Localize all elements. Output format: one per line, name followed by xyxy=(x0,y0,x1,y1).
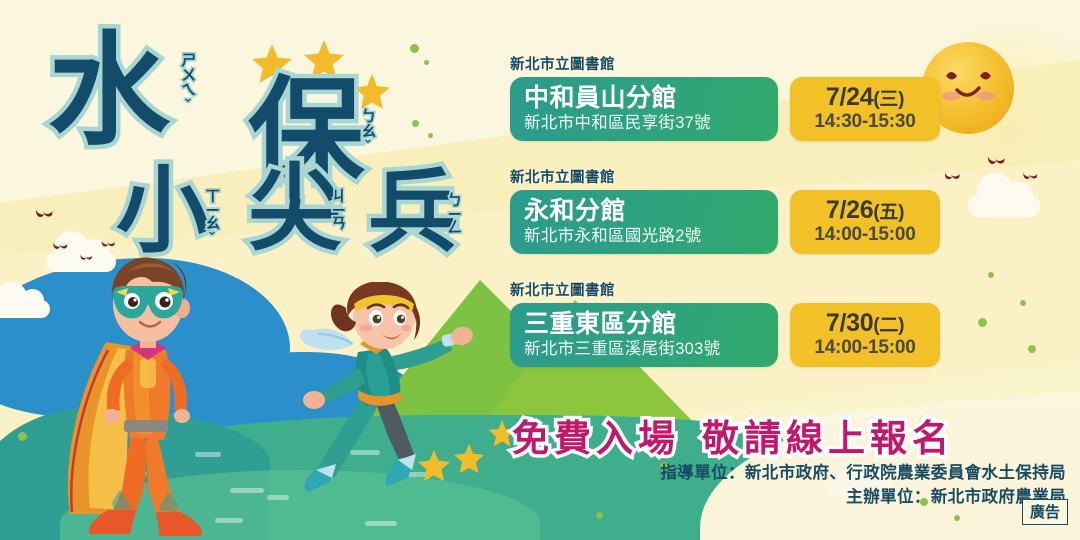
event-date-value: 7/26 xyxy=(826,196,873,224)
event-list: 新北市立圖書館 中和員山分館 新北市中和區民享街37號 7/24(三) 14:3… xyxy=(510,58,950,397)
decor-dot xyxy=(18,432,27,441)
title-bopomofo-bing: ㄅㄧㄥ xyxy=(446,192,461,234)
water-ripple xyxy=(267,495,289,500)
event-weekday: (二) xyxy=(873,315,904,336)
bird-icon xyxy=(1023,169,1037,177)
event-time: 14:30-15:30 xyxy=(814,111,915,134)
water-ripple xyxy=(365,521,397,526)
credits-host: 主辦單位：新北市政府農業局 xyxy=(660,486,1066,510)
title-char-xiao: 小 xyxy=(116,164,210,258)
title-bopomofo-shui: ㄕㄨㄟˇ xyxy=(180,52,195,114)
decor-dot xyxy=(596,512,603,519)
event-organizer: 新北市立圖書館 xyxy=(510,58,950,73)
event-venue-name: 三重東區分館 xyxy=(524,310,764,338)
cloud-icon xyxy=(0,300,50,318)
title-bopomofo-jian: ㄐㄧㄢ xyxy=(330,188,345,230)
credits-block: 指導單位：新北市政府、行政院農業委員會水土保持局 主辦單位：新北市政府農業局 xyxy=(660,462,1066,510)
event-venue-box[interactable]: 永和分館 新北市永和區國光路2號 xyxy=(510,190,778,255)
cta-free-entry: 免費入場 xyxy=(512,418,680,459)
decor-dot xyxy=(954,515,960,521)
event-venue-address: 新北市三重區溪尾街303號 xyxy=(524,339,764,360)
event-date-box[interactable]: 7/26(五) 14:00-15:00 xyxy=(790,190,940,255)
advertisement-tag: 廣告 xyxy=(1022,499,1068,525)
decor-dot xyxy=(1028,345,1036,353)
event-item[interactable]: 新北市立圖書館 永和分館 新北市永和區國光路2號 7/26(五) 14:00-1… xyxy=(510,171,950,274)
event-weekday: (三) xyxy=(873,89,904,110)
decor-dot xyxy=(1020,300,1026,306)
cta-banner: 免費入場敬請線上報名 xyxy=(512,408,954,462)
bird-icon xyxy=(988,152,1004,161)
title-bopomofo-bao: ㄅㄠˇ xyxy=(360,108,375,155)
event-time: 14:00-15:00 xyxy=(814,337,915,360)
event-organizer: 新北市立圖書館 xyxy=(510,284,950,299)
decor-dot xyxy=(988,272,994,278)
event-date-value: 7/30 xyxy=(826,309,873,337)
event-date: 7/26(五) xyxy=(826,197,904,223)
event-venue-name: 永和分館 xyxy=(524,197,764,225)
event-venue-address: 新北市永和區國光路2號 xyxy=(524,226,764,247)
cloud-icon xyxy=(968,195,1040,217)
event-venue-name: 中和員山分館 xyxy=(524,84,764,112)
event-item[interactable]: 新北市立圖書館 三重東區分館 新北市三重區溪尾街303號 7/30(二) 14:… xyxy=(510,284,950,387)
event-date: 7/30(二) xyxy=(826,310,904,336)
title-char-jian: 尖 xyxy=(248,162,342,256)
event-venue-box[interactable]: 三重東區分館 新北市三重區溪尾街303號 xyxy=(510,303,778,368)
decor-dot xyxy=(978,318,987,327)
cta-register: 敬請線上報名 xyxy=(702,418,954,459)
event-item[interactable]: 新北市立圖書館 中和員山分館 新北市中和區民享街37號 7/24(三) 14:3… xyxy=(510,58,950,161)
event-organizer: 新北市立圖書館 xyxy=(510,171,950,186)
event-date: 7/24(三) xyxy=(826,84,904,110)
event-venue-box[interactable]: 中和員山分館 新北市中和區民享街37號 xyxy=(510,77,778,142)
title-char-shui: 水 xyxy=(48,30,170,152)
credits-advisor: 指導單位：新北市政府、行政院農業委員會水土保持局 xyxy=(660,462,1066,486)
event-weekday: (五) xyxy=(873,202,904,223)
superhero-boy-illustration xyxy=(48,252,248,540)
event-date-box[interactable]: 7/30(二) 14:00-15:00 xyxy=(790,303,940,368)
title-bopomofo-xiao: ㄒㄧㄠˇ xyxy=(204,188,219,247)
event-time: 14:00-15:00 xyxy=(814,224,915,247)
event-date-box[interactable]: 7/24(三) 14:30-15:30 xyxy=(790,77,940,142)
poster-canvas: 水 ㄕㄨㄟˇ 保 ㄅㄠˇ 小 ㄒㄧㄠˇ 尖 ㄐㄧㄢ 兵 ㄅㄧㄥ xyxy=(0,0,1080,540)
event-date-value: 7/24 xyxy=(826,83,873,111)
poster-title: 水 ㄕㄨㄟˇ 保 ㄅㄠˇ 小 ㄒㄧㄠˇ 尖 ㄐㄧㄢ 兵 ㄅㄧㄥ xyxy=(40,30,480,270)
event-venue-address: 新北市中和區民享街37號 xyxy=(524,113,764,134)
superhero-girl-illustration xyxy=(296,282,506,492)
